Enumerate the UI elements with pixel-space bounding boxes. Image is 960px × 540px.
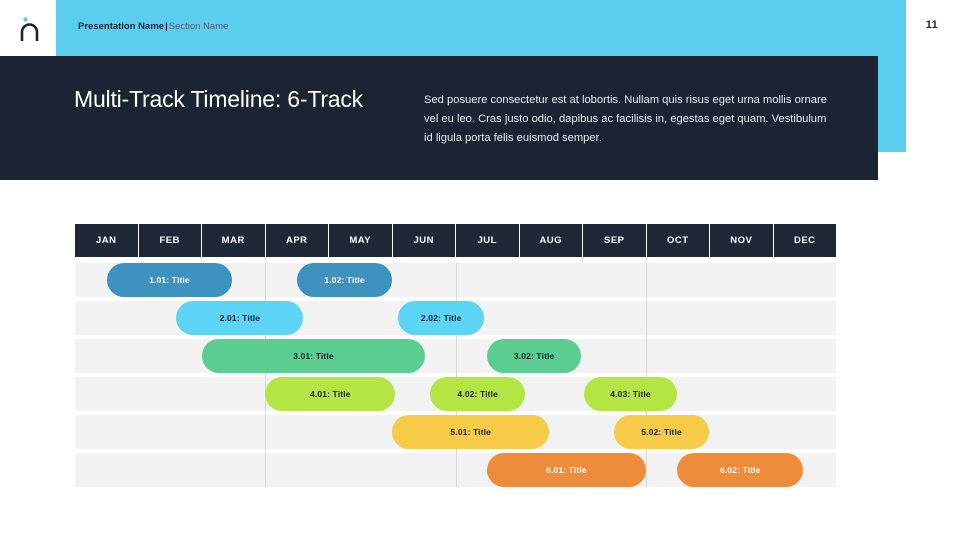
month-cell-dec[interactable]: DEC	[774, 224, 837, 257]
month-cell-oct[interactable]: OCT	[647, 224, 711, 257]
timeline-pill-5.01[interactable]: 5.01: Title	[392, 415, 549, 449]
timeline-pill-3.01[interactable]: 3.01: Title	[202, 339, 425, 373]
timeline-pill-6.01[interactable]: 6.01: Title	[487, 453, 646, 487]
month-cell-aug[interactable]: AUG	[520, 224, 584, 257]
timeline-pill-2.01[interactable]: 2.01: Title	[176, 301, 303, 335]
track-row-6: 6.01: Title6.02: Title	[75, 453, 836, 487]
presentation-name: Presentation Name	[78, 21, 164, 32]
track-row-3: 3.01: Title3.02: Title	[75, 339, 836, 373]
title-panel: Multi-Track Timeline: 6-Track Sed posuer…	[0, 56, 878, 180]
timeline-pill-4.03[interactable]: 4.03: Title	[584, 377, 678, 411]
month-cell-nov[interactable]: NOV	[710, 224, 774, 257]
timeline-month-header: JANFEBMARAPRMAYJUNJULAUGSEPOCTNOVDEC	[75, 224, 836, 257]
breadcrumb: Presentation Name|Section Name	[78, 21, 228, 33]
timeline-pill-1.01[interactable]: 1.01: Title	[107, 263, 233, 297]
month-cell-jan[interactable]: JAN	[75, 224, 139, 257]
page-number: 11	[926, 19, 938, 31]
page-title: Multi-Track Timeline: 6-Track	[74, 84, 404, 115]
track-row-1: 1.01: Title1.02: Title	[75, 263, 836, 297]
page-description: Sed posuere consectetur est at lobortis.…	[424, 91, 836, 148]
track-row-5: 5.01: Title5.02: Title	[75, 415, 836, 449]
breadcrumb-separator: |	[165, 21, 168, 32]
brand-logo-icon	[18, 16, 42, 42]
timeline-pill-4.01[interactable]: 4.01: Title	[265, 377, 395, 411]
timeline-tracks: 1.01: Title1.02: Title2.01: Title2.02: T…	[75, 263, 836, 487]
track-row-4: 4.01: Title4.02: Title4.03: Title	[75, 377, 836, 411]
track-row-2: 2.01: Title2.02: Title	[75, 301, 836, 335]
month-cell-apr[interactable]: APR	[266, 224, 330, 257]
month-cell-feb[interactable]: FEB	[139, 224, 203, 257]
timeline-pill-5.02[interactable]: 5.02: Title	[614, 415, 709, 449]
logo-container[interactable]	[0, 0, 56, 56]
month-cell-jun[interactable]: JUN	[393, 224, 457, 257]
timeline-chart: JANFEBMARAPRMAYJUNJULAUGSEPOCTNOVDEC 1.0…	[75, 224, 836, 487]
month-cell-sep[interactable]: SEP	[583, 224, 647, 257]
month-cell-jul[interactable]: JUL	[456, 224, 520, 257]
timeline-pill-1.02[interactable]: 1.02: Title	[297, 263, 392, 297]
month-cell-mar[interactable]: MAR	[202, 224, 266, 257]
timeline-pill-6.02[interactable]: 6.02: Title	[677, 453, 803, 487]
month-cell-may[interactable]: MAY	[329, 224, 393, 257]
timeline-pill-2.02[interactable]: 2.02: Title	[398, 301, 484, 335]
section-name: Section Name	[169, 21, 229, 32]
timeline-pill-3.02[interactable]: 3.02: Title	[487, 339, 581, 373]
timeline-pill-4.02[interactable]: 4.02: Title	[430, 377, 525, 411]
